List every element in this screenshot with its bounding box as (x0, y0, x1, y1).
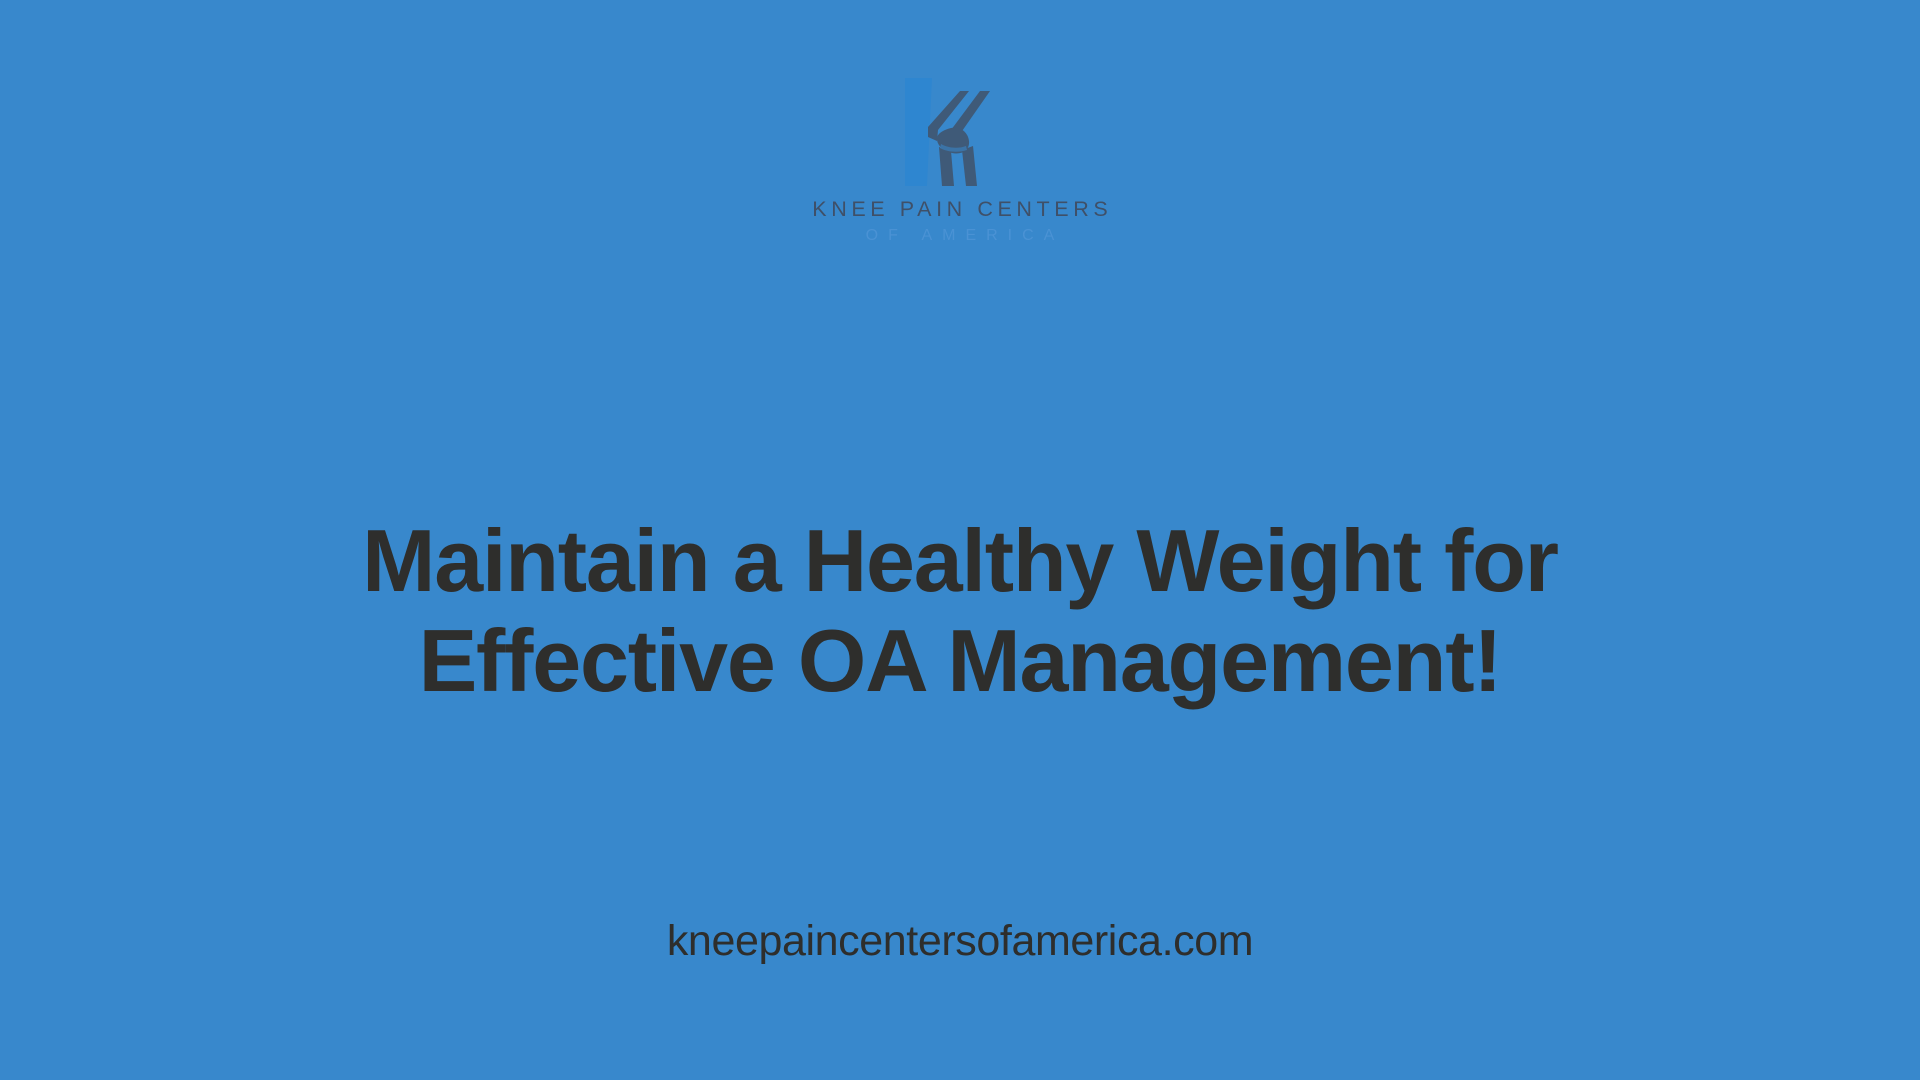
page-title: Maintain a Healthy Weight for Effective … (0, 511, 1920, 711)
knee-joint-k-monogram-icon (894, 78, 1026, 190)
logo-subwordmark: OF AMERICA (856, 228, 1065, 244)
website-url[interactable]: kneepaincentersofamerica.com (0, 915, 1920, 967)
logo-wordmark: KNEE PAIN CENTERS (808, 199, 1113, 221)
brand-logo[interactable]: KNEE PAIN CENTERS OF AMERICA (750, 78, 1170, 244)
social-share-card: KNEE PAIN CENTERS OF AMERICA Maintain a … (0, 0, 1920, 1080)
headline-line-1: Maintain a Healthy Weight for (180, 511, 1740, 611)
headline-line-2: Effective OA Management! (180, 611, 1740, 711)
